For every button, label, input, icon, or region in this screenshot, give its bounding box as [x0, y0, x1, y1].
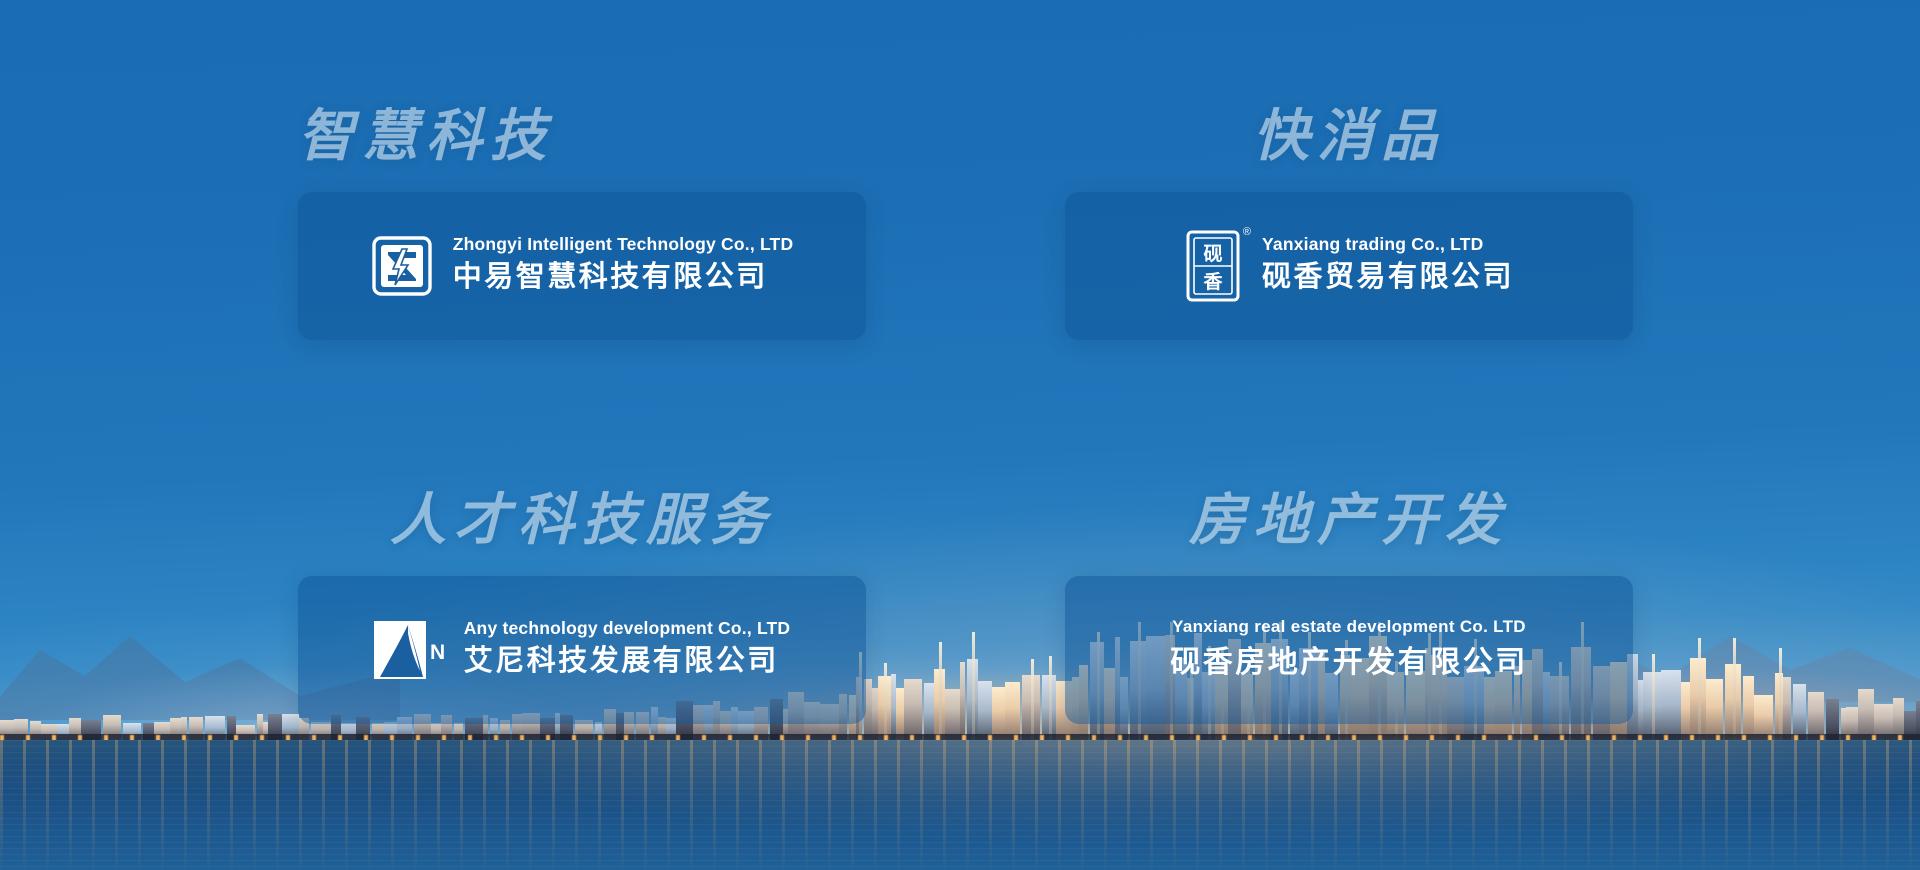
company-name-en: Any technology development Co., LTD — [464, 618, 791, 639]
svg-text:NY: NY — [430, 641, 444, 664]
business-divisions-grid: 智慧科技 Zhongyi Intelligent Technology Co.,… — [0, 0, 1920, 870]
yanxiang-seal-icon: 砚 香 ® — [1184, 229, 1242, 303]
section-title-smart-technology: 智慧科技 — [298, 108, 866, 164]
company-card-yanxiang-real-estate[interactable]: Yanxiang real estate development Co. LTD… — [1065, 576, 1633, 724]
zhongyi-z-seal-icon — [371, 235, 433, 297]
company-names-any-technology: Any technology development Co., LTD 艾尼科技… — [464, 618, 791, 681]
registered-trademark-icon: ® — [1243, 227, 1251, 238]
division-block-smart-technology: 智慧科技 Zhongyi Intelligent Technology Co.,… — [298, 108, 866, 340]
company-names-yanxiang-real-estate: Yanxiang real estate development Co. LTD… — [1170, 617, 1528, 684]
company-card-yanxiang-trading[interactable]: 砚 香 ® Yanxiang trading Co., LTD 砚香贸易有限公司 — [1065, 192, 1633, 340]
svg-text:香: 香 — [1202, 271, 1223, 293]
company-names-zhongyi: Zhongyi Intelligent Technology Co., LTD … — [453, 234, 794, 297]
division-block-talent-services: 人才科技服务 NY Any technology development Co.… — [298, 492, 866, 724]
company-name-cn: 砚香房地产开发有限公司 — [1170, 643, 1528, 684]
division-block-real-estate: 房地产开发 Yanxiang real estate development C… — [1065, 492, 1633, 724]
company-name-en: Zhongyi Intelligent Technology Co., LTD — [453, 234, 794, 255]
section-title-fmcg: 快消品 — [1065, 108, 1633, 164]
company-name-cn: 中易智慧科技有限公司 — [453, 258, 794, 297]
svg-text:砚: 砚 — [1203, 243, 1222, 265]
company-card-zhongyi[interactable]: Zhongyi Intelligent Technology Co., LTD … — [298, 192, 866, 340]
company-name-en: Yanxiang trading Co., LTD — [1262, 234, 1514, 255]
company-card-any-technology[interactable]: NY Any technology development Co., LTD 艾… — [298, 576, 866, 724]
company-name-cn: 砚香贸易有限公司 — [1262, 258, 1514, 297]
section-title-real-estate: 房地产开发 — [1065, 492, 1633, 548]
company-names-yanxiang-trading: Yanxiang trading Co., LTD 砚香贸易有限公司 — [1262, 234, 1514, 297]
division-block-fmcg: 快消品 砚 香 ® Yanxiang trading Co., LTD 砚香贸易… — [1065, 108, 1633, 340]
company-name-en: Yanxiang real estate development Co. LTD — [1172, 617, 1526, 637]
section-title-talent-services: 人才科技服务 — [298, 492, 866, 548]
any-mountain-icon: NY — [374, 619, 444, 681]
company-name-cn: 艾尼科技发展有限公司 — [464, 642, 791, 681]
